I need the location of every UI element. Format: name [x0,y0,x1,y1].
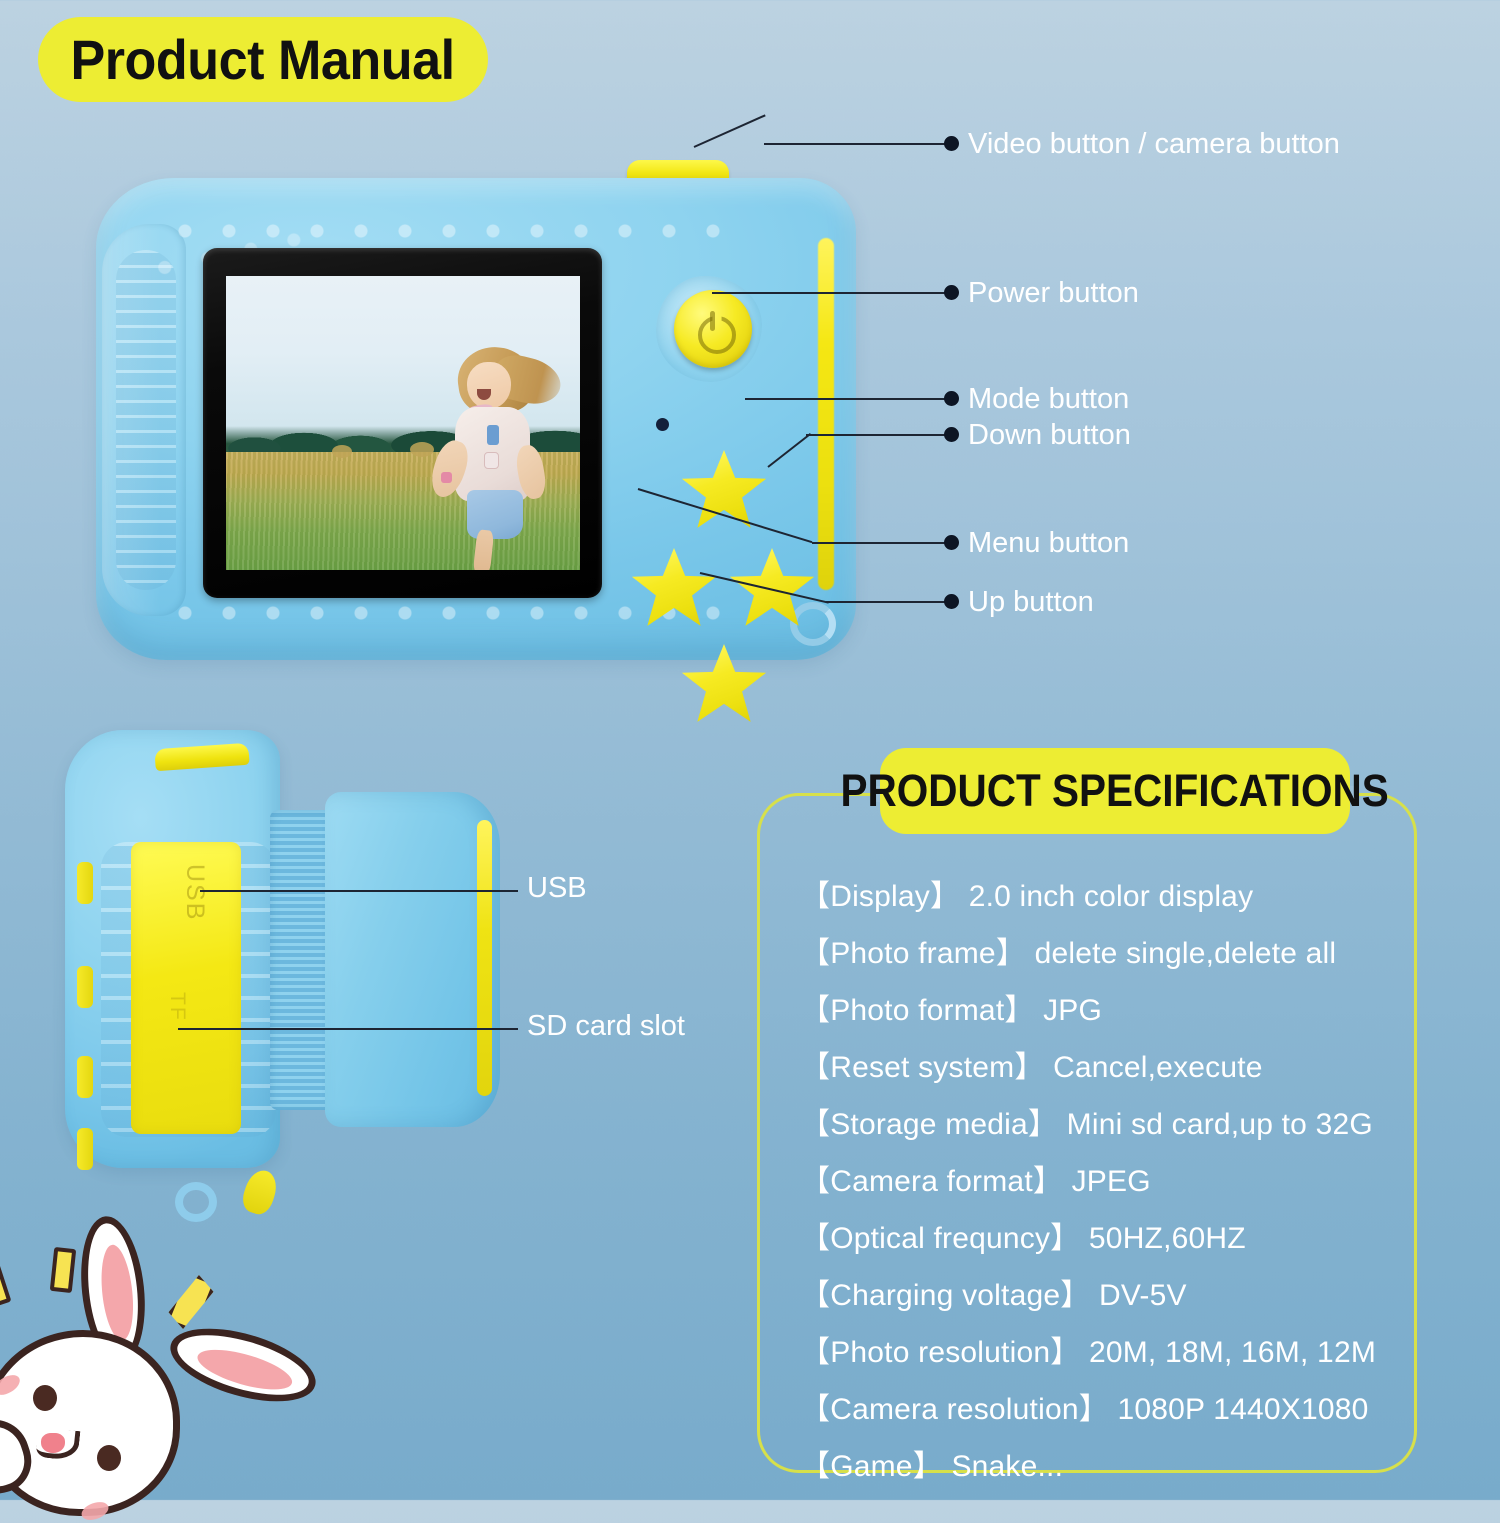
spec-key: 【Optical frequncy】 [800,1222,1080,1255]
side-yellow-nub [239,1166,281,1217]
spec-key: 【Photo format】 [800,994,1035,1027]
lens-yellow-edge [477,820,492,1096]
callout-label-power-button: Power button [968,277,1139,310]
spec-key: 【Photo frame】 [800,937,1026,970]
manual-page: Product Manual [0,0,1500,1500]
side-button-tab[interactable] [77,1128,93,1170]
callout-line [178,1028,518,1030]
callout-label-usb: USB [527,872,587,905]
callout-line [764,143,946,145]
callout-dot [944,136,959,151]
spec-key: 【Camera resolution】 [800,1393,1109,1426]
bunny-mascot-icon [0,1238,290,1518]
callout-line [694,114,766,148]
callout-dot [944,285,959,300]
screen-preview-photo [226,276,580,570]
callout-dot [944,594,959,609]
spec-value: Cancel,execute [1053,1051,1263,1084]
callout-line [826,601,946,603]
spec-value: JPG [1043,994,1102,1027]
microphone-hole [656,418,669,431]
callout-dot [944,535,959,550]
callout-label-sd-card-slot: SD card slot [527,1010,685,1043]
spec-row: 【Reset system】 Cancel,execute [800,1039,1420,1096]
bunny-head [0,1330,180,1516]
spec-row: 【Camera format】 JPEG [800,1153,1420,1210]
callout-label-down-button: Down button [968,419,1131,452]
callout-line [812,542,946,544]
specifications-heading-badge: PRODUCT SPECIFICATIONS [880,748,1350,834]
lens-barrel [325,792,500,1127]
spec-key: 【Storage media】 [800,1108,1058,1141]
bunny-eye [33,1385,57,1411]
spec-value: 50HZ,60HZ [1089,1222,1246,1255]
spec-row: 【Charging voltage】 DV-5V [800,1267,1420,1324]
callout-label-menu-button: Menu button [968,527,1129,560]
callout-label-up-button: Up button [968,586,1094,619]
callout-line [745,398,946,400]
spec-row: 【Photo frame】 delete single,delete all [800,925,1420,982]
spec-value: delete single,delete all [1035,937,1337,970]
page-title: Product Manual [71,27,455,92]
callout-dot [944,391,959,406]
spec-row: 【Photo format】 JPG [800,982,1420,1039]
screen-bezel [203,248,602,598]
sparkle-icon [165,1270,218,1335]
power-button[interactable] [674,290,752,368]
callout-line [806,434,946,436]
callout-label-video-button: Video button / camera button [968,128,1340,161]
star-icon-mode-button[interactable] [681,450,767,532]
camera-back-view [96,160,856,660]
usb-embossed-label: USB [180,864,209,921]
power-icon [695,311,731,347]
callout-line [200,890,518,892]
yellow-edge-strip [818,238,834,590]
lens-focus-ring [270,810,332,1110]
spec-key: 【Camera format】 [800,1165,1063,1198]
spec-row: 【Storage media】 Mini sd card,up to 32G [800,1096,1420,1153]
spec-value: 20M, 18M, 16M, 12M [1089,1336,1376,1369]
spec-value: Snake... [951,1450,1063,1483]
spec-key: 【Photo resolution】 [800,1336,1080,1369]
side-button-tab[interactable] [77,862,93,904]
port-cover[interactable]: USB TF [131,842,241,1134]
photo-girl [431,347,551,570]
spec-row: 【Photo resolution】 20M, 18M, 16M, 12M [800,1324,1420,1381]
spec-key: 【Display】 [800,880,960,913]
spec-row: 【Display】 2.0 inch color display [800,868,1420,925]
side-shutter-button[interactable] [154,743,249,772]
callout-line [712,292,946,294]
camera-side-view: USB TF [45,700,525,1220]
spec-row: 【Camera resolution】 1080P 1440X1080 [800,1381,1420,1438]
bunny-eye [97,1445,121,1471]
spec-value: 1080P 1440X1080 [1117,1393,1368,1426]
callout-label-mode-button: Mode button [968,383,1129,416]
spec-key: 【Charging voltage】 [800,1279,1090,1312]
page-title-badge: Product Manual [38,17,488,102]
spec-row: 【Game】 Snake... [800,1438,1420,1495]
spec-key: 【Reset system】 [800,1051,1045,1084]
callout-dot [944,427,959,442]
spec-row: 【Optical frequncy】 50HZ,60HZ [800,1210,1420,1267]
specifications-heading: PRODUCT SPECIFICATIONS [841,765,1389,817]
camera-grip [102,224,186,616]
sparkle-icon [50,1247,76,1293]
spec-value: JPEG [1072,1165,1151,1198]
card-embossed-label: TF [165,992,189,1022]
bunny-ear-right [162,1315,323,1416]
side-strap-lug [175,1182,217,1222]
sparkle-icon [0,1252,11,1308]
side-button-tab[interactable] [77,966,93,1008]
spec-value: DV-5V [1099,1279,1187,1312]
spec-key: 【Game】 [800,1450,943,1483]
side-button-tab[interactable] [77,1056,93,1098]
camera-side-body: USB TF [65,730,280,1168]
specifications-list: 【Display】 2.0 inch color display 【Photo … [800,868,1420,1495]
camera-body [96,178,856,660]
spec-value: Mini sd card,up to 32G [1067,1108,1373,1141]
star-icon-up-button[interactable] [681,644,767,726]
spec-value: 2.0 inch color display [969,880,1254,913]
